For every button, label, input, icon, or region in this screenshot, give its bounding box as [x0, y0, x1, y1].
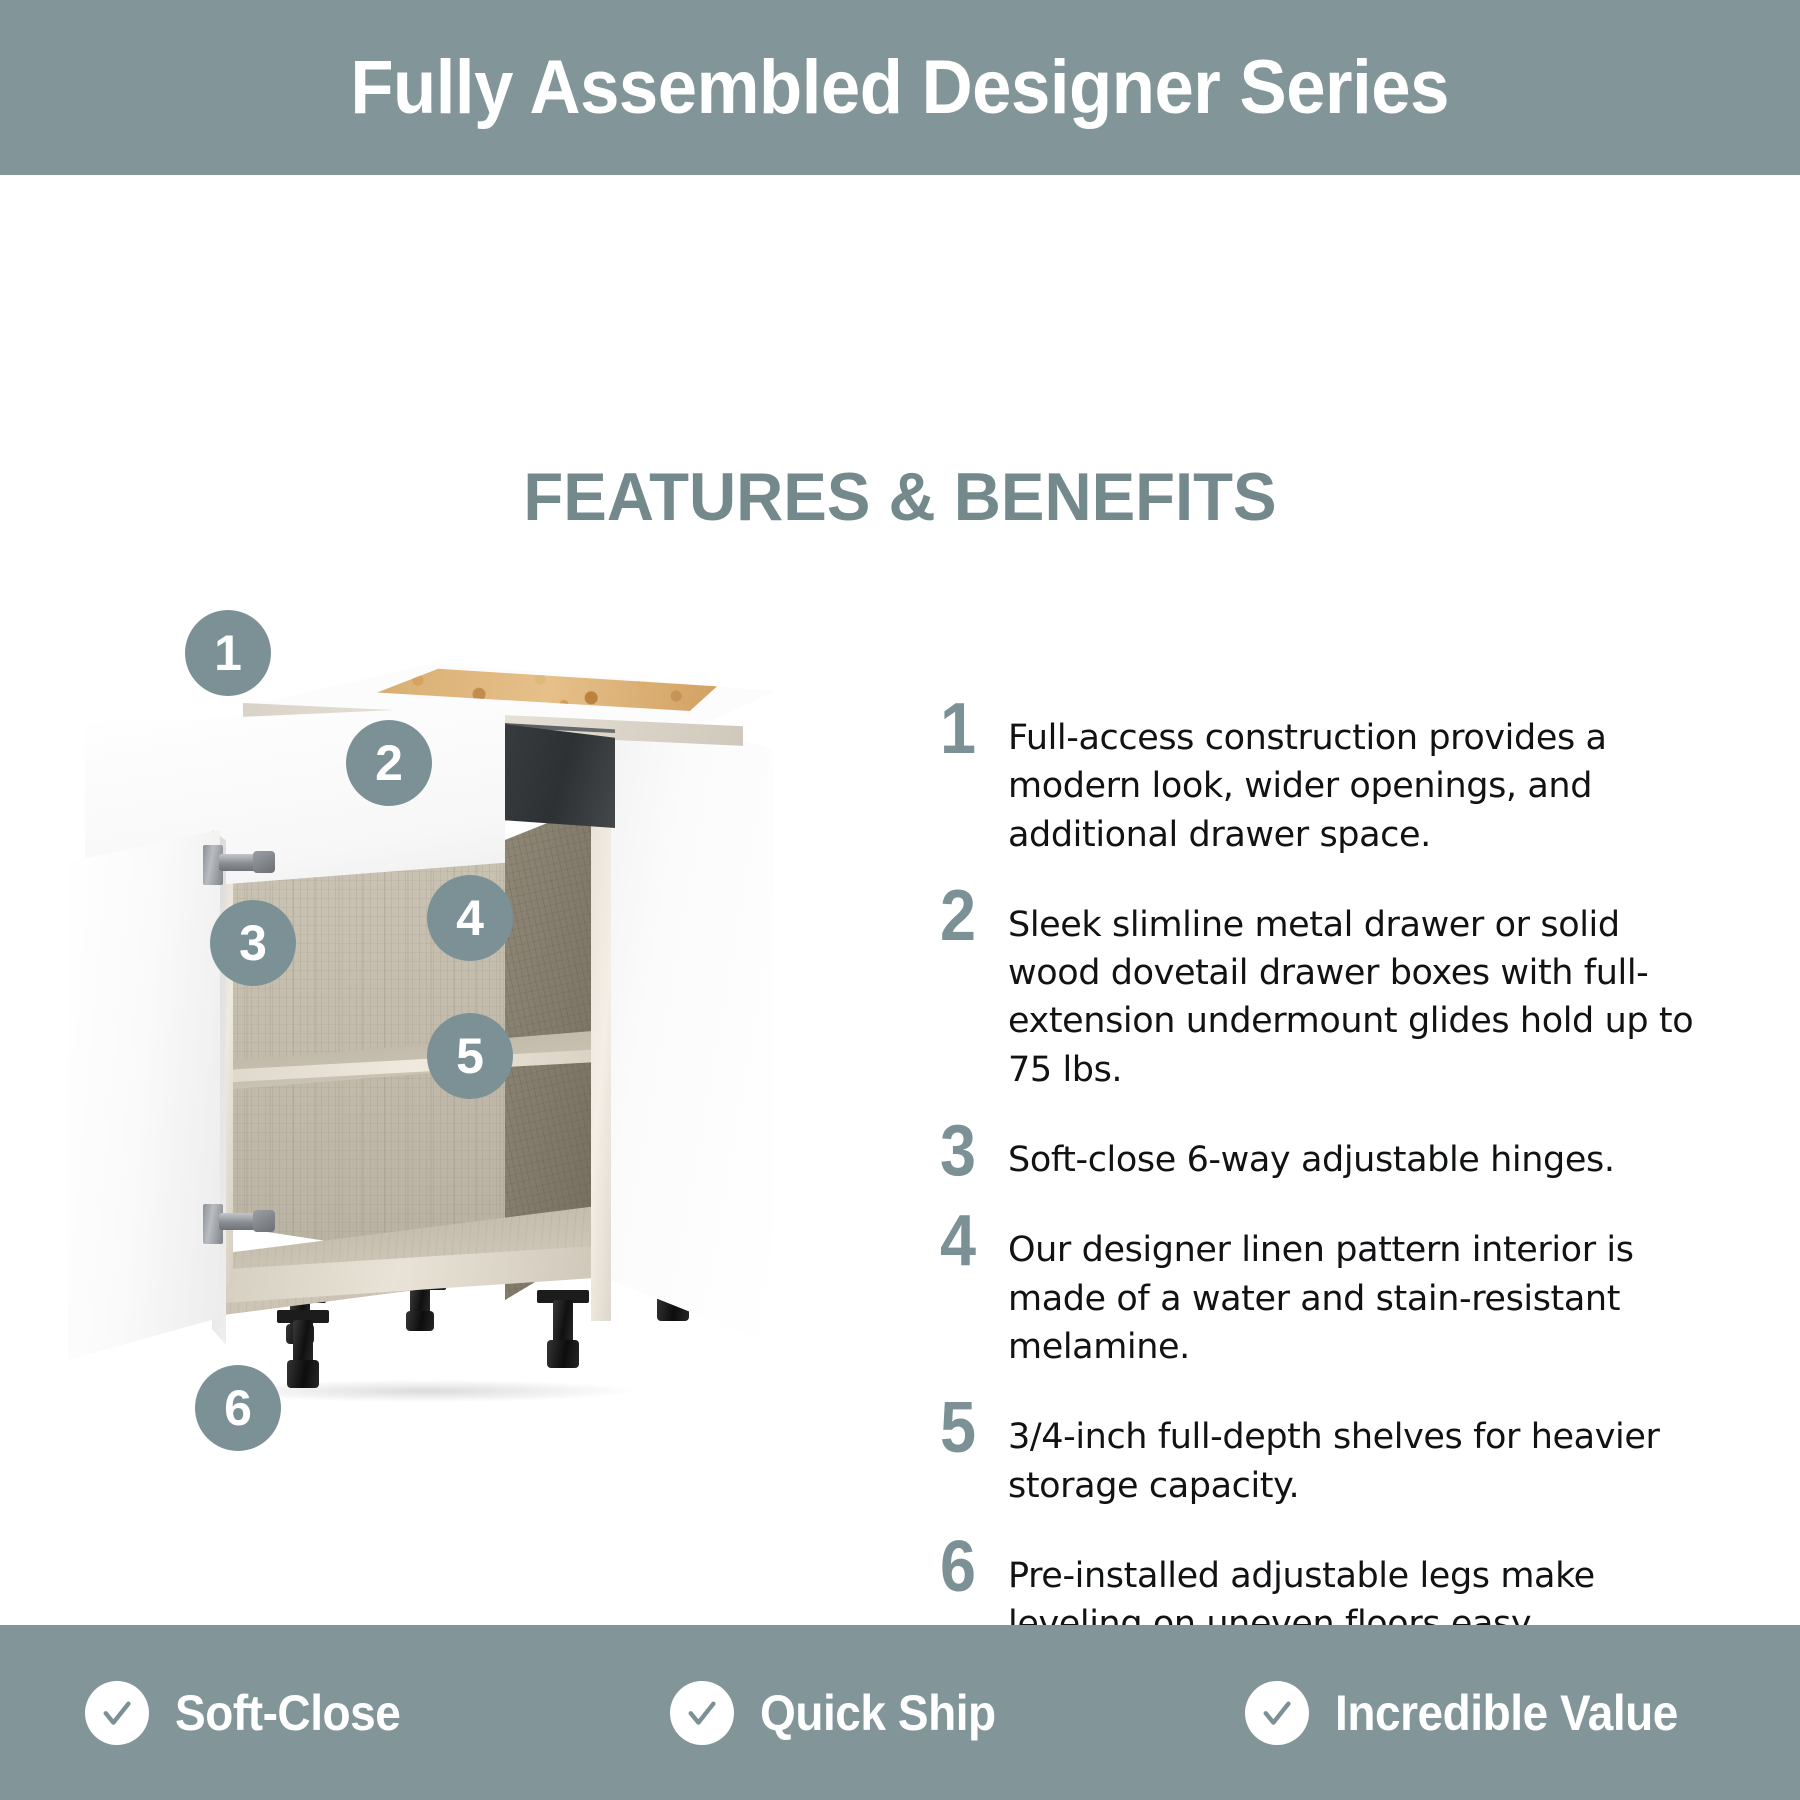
check-circle-icon: [1245, 1681, 1309, 1745]
leg-foot: [547, 1340, 579, 1368]
footer-badge-quick-ship: Quick Ship: [640, 1681, 1225, 1745]
feature-number-1: 1: [940, 700, 1001, 759]
callout-marker-3[interactable]: 3: [210, 900, 296, 986]
header-bar: Fully Assembled Designer Series: [0, 0, 1800, 175]
product-illustration: 1 2 3 4 5 6: [55, 645, 815, 1475]
cabinet-front-edge-right: [591, 741, 611, 1321]
callout-marker-6[interactable]: 6: [195, 1365, 281, 1451]
hinge-cup: [253, 851, 275, 873]
page-title: Fully Assembled Designer Series: [351, 50, 1450, 126]
footer-label-quick-ship: Quick Ship: [760, 1684, 996, 1742]
metal-drawer-box: [495, 723, 615, 828]
feature-text-2: Sleek slimline metal drawer or solid woo…: [1008, 887, 1700, 1094]
feature-list: 1 Full-access construction provides a mo…: [940, 700, 1700, 1676]
feature-number-4: 4: [940, 1212, 1001, 1271]
footer-label-soft-close: Soft-Close: [175, 1684, 400, 1742]
section-heading: FEATURES & BENEFITS: [36, 463, 1764, 531]
soft-close-hinge-top: [203, 841, 277, 885]
footer-badge-soft-close: Soft-Close: [0, 1681, 640, 1745]
feature-number-3: 3: [940, 1122, 1001, 1181]
soft-close-hinge-bottom: [203, 1200, 277, 1244]
feature-item-3: 3 Soft-close 6-way adjustable hinges.: [940, 1122, 1700, 1184]
feature-number-2: 2: [940, 887, 1001, 946]
feature-number-5: 5: [940, 1399, 1001, 1458]
feature-number-6: 6: [940, 1538, 1001, 1597]
check-circle-icon: [85, 1681, 149, 1745]
callout-marker-2[interactable]: 2: [346, 720, 432, 806]
feature-item-1: 1 Full-access construction provides a mo…: [940, 700, 1700, 859]
leg-foot: [287, 1360, 319, 1388]
callout-marker-4[interactable]: 4: [427, 875, 513, 961]
main-content: FEATURES & BENEFITS: [0, 175, 1800, 1600]
feature-item-2: 2 Sleek slimline metal drawer or solid w…: [940, 887, 1700, 1094]
feature-text-5: 3/4-inch full-depth shelves for heavier …: [1008, 1399, 1700, 1510]
feature-text-4: Our designer linen pattern interior is m…: [1008, 1212, 1700, 1371]
cabinet-door-panel: [60, 830, 220, 1360]
footer-label-incredible-value: Incredible Value: [1335, 1684, 1678, 1742]
callout-marker-5[interactable]: 5: [427, 1013, 513, 1099]
feature-text-1: Full-access construction provides a mode…: [1008, 700, 1700, 859]
callout-marker-1[interactable]: 1: [185, 610, 271, 696]
hinge-cup: [253, 1210, 275, 1232]
footer-badge-incredible-value: Incredible Value: [1225, 1681, 1800, 1745]
footer-bar: Soft-Close Quick Ship Incredible Value: [0, 1625, 1800, 1800]
feature-text-3: Soft-close 6-way adjustable hinges.: [1008, 1122, 1700, 1184]
cabinet-side-panel: [601, 691, 773, 1345]
check-circle-icon: [670, 1681, 734, 1745]
leg-foot: [406, 1311, 434, 1331]
feature-item-5: 5 3/4-inch full-depth shelves for heavie…: [940, 1399, 1700, 1510]
feature-item-4: 4 Our designer linen pattern interior is…: [940, 1212, 1700, 1371]
